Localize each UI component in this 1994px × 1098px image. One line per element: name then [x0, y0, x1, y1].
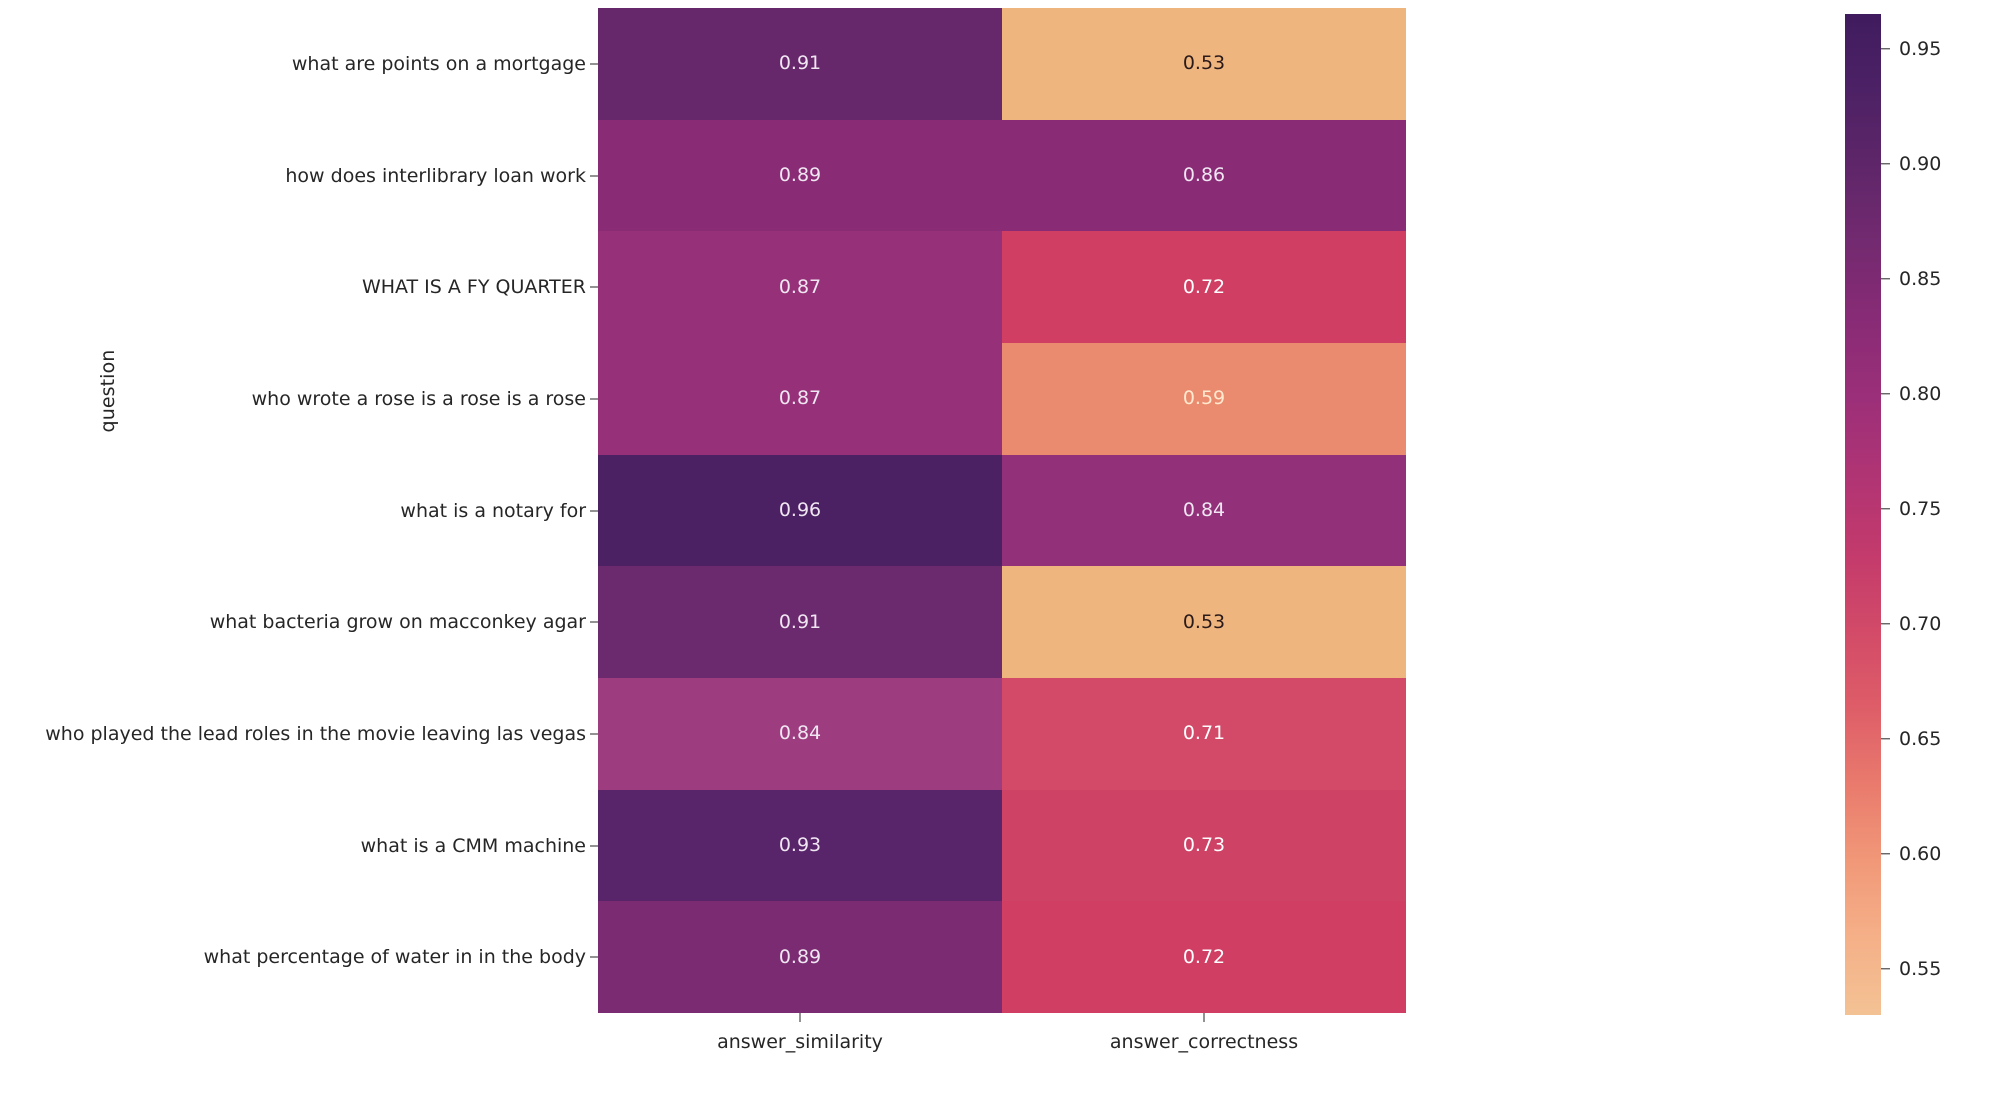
colorbar-tick-label: 0.65 [1899, 728, 1941, 750]
heatmap-body: 0.910.530.890.860.870.720.870.590.960.84… [598, 8, 1406, 1013]
heatmap-row: 0.930.73 [598, 790, 1406, 902]
heatmap-row: 0.910.53 [598, 8, 1406, 120]
heatmap-figure: question what are points on a mortgageho… [0, 0, 1994, 1098]
heatmap-cell: 0.53 [1002, 566, 1406, 678]
colorbar-tick-mark [1881, 278, 1890, 279]
heatmap-cell: 0.96 [598, 455, 1002, 567]
heatmap-row: 0.890.86 [598, 120, 1406, 232]
x-axis-tick-layer: answer_similarityanswer_correctness [598, 1013, 1406, 1098]
colorbar-tick-mark [1881, 738, 1890, 739]
heatmap-row: 0.960.84 [598, 455, 1406, 567]
y-axis-tick-layer: what are points on a mortgagehow does in… [0, 8, 598, 1013]
y-axis-tick-label: what percentage of water in in the body [204, 946, 598, 968]
heatmap-row: 0.890.72 [598, 901, 1406, 1013]
y-axis-tick-label: who wrote a rose is a rose is a rose [252, 388, 598, 410]
colorbar [1845, 14, 1881, 1015]
heatmap-cell: 0.71 [1002, 678, 1406, 790]
heatmap-cell: 0.89 [598, 120, 1002, 232]
colorbar-tick-label: 0.90 [1899, 153, 1941, 175]
colorbar-tick-mark [1881, 968, 1890, 969]
heatmap-cell: 0.87 [598, 231, 1002, 343]
colorbar-tick-mark [1881, 163, 1890, 164]
heatmap-cell: 0.72 [1002, 901, 1406, 1013]
heatmap-row: 0.910.53 [598, 566, 1406, 678]
x-axis-tick-label: answer_similarity [717, 1031, 883, 1053]
y-axis-tick-label: what are points on a mortgage [292, 53, 598, 75]
colorbar-tick-mark [1881, 853, 1890, 854]
heatmap-cell: 0.91 [598, 8, 1002, 120]
heatmap-cell: 0.84 [1002, 455, 1406, 567]
heatmap-cell: 0.87 [598, 343, 1002, 455]
x-axis-tick-label: answer_correctness [1110, 1031, 1298, 1053]
heatmap-grid: 0.910.530.890.860.870.720.870.590.960.84… [598, 8, 1406, 1013]
colorbar-tick-mark [1881, 508, 1890, 509]
colorbar-tick-label: 0.75 [1899, 498, 1941, 520]
heatmap-plot-area: 0.910.530.890.860.870.720.870.590.960.84… [598, 8, 1406, 1013]
y-axis-tick-label: what is a notary for [400, 500, 598, 522]
y-axis-tick-label: who played the lead roles in the movie l… [45, 723, 598, 745]
heatmap-row: 0.870.72 [598, 231, 1406, 343]
colorbar-tick-mark [1881, 48, 1890, 49]
y-axis-tick-label: what bacteria grow on macconkey agar [210, 611, 598, 633]
heatmap-cell: 0.53 [1002, 8, 1406, 120]
colorbar-tick-label: 0.55 [1899, 958, 1941, 980]
colorbar-tick-label: 0.95 [1899, 38, 1941, 60]
heatmap-cell: 0.93 [598, 790, 1002, 902]
heatmap-row: 0.840.71 [598, 678, 1406, 790]
heatmap-row: 0.870.59 [598, 343, 1406, 455]
heatmap-cell: 0.89 [598, 901, 1002, 1013]
colorbar-tick-label: 0.80 [1899, 383, 1941, 405]
colorbar-tick-label: 0.85 [1899, 268, 1941, 290]
y-axis-tick-label: what is a CMM machine [361, 835, 598, 857]
heatmap-cell: 0.91 [598, 566, 1002, 678]
heatmap-cell: 0.86 [1002, 120, 1406, 232]
colorbar-gradient [1845, 14, 1881, 1015]
y-axis-tick-label: how does interlibrary loan work [285, 165, 598, 187]
colorbar-tick-mark [1881, 393, 1890, 394]
heatmap-cell: 0.73 [1002, 790, 1406, 902]
colorbar-tick-label: 0.60 [1899, 843, 1941, 865]
heatmap-cell: 0.84 [598, 678, 1002, 790]
heatmap-cell: 0.72 [1002, 231, 1406, 343]
colorbar-tick-label: 0.70 [1899, 613, 1941, 635]
x-axis-tick-mark [800, 1013, 801, 1022]
colorbar-tick-layer: 0.950.900.850.800.750.700.650.600.55 [1881, 14, 1991, 1015]
x-axis-tick-mark [1204, 1013, 1205, 1022]
colorbar-tick-mark [1881, 623, 1890, 624]
heatmap-cell: 0.59 [1002, 343, 1406, 455]
y-axis-tick-label: WHAT IS A FY QUARTER [362, 276, 598, 298]
